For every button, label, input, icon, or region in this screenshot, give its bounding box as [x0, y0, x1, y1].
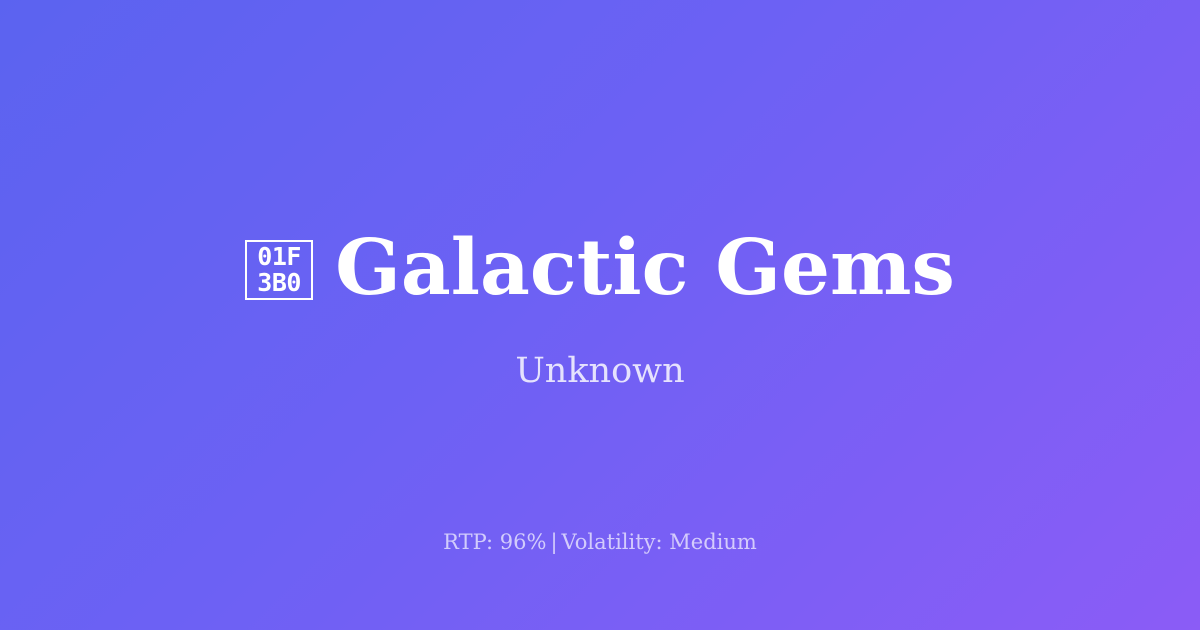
tofu-codepoint-bottom: 3B0: [257, 270, 301, 296]
rtp-value: RTP: 96%: [443, 530, 546, 554]
slot-machine-emoji-tofu-icon: 01F 3B0: [245, 240, 313, 300]
volatility-value: Volatility: Medium: [562, 530, 757, 554]
title-row: 01F 3B0 Galactic Gems: [245, 222, 955, 314]
page-title: Galactic Gems: [335, 222, 955, 314]
meta-separator: |: [546, 530, 561, 554]
og-preview-card: 01F 3B0 Galactic Gems Unknown RTP: 96%|V…: [0, 0, 1200, 630]
game-meta-line: RTP: 96%|Volatility: Medium: [0, 528, 1200, 556]
page-subtitle: Unknown: [515, 350, 684, 392]
hero-block: 01F 3B0 Galactic Gems Unknown: [0, 222, 1200, 392]
tofu-codepoint-top: 01F: [257, 244, 301, 270]
